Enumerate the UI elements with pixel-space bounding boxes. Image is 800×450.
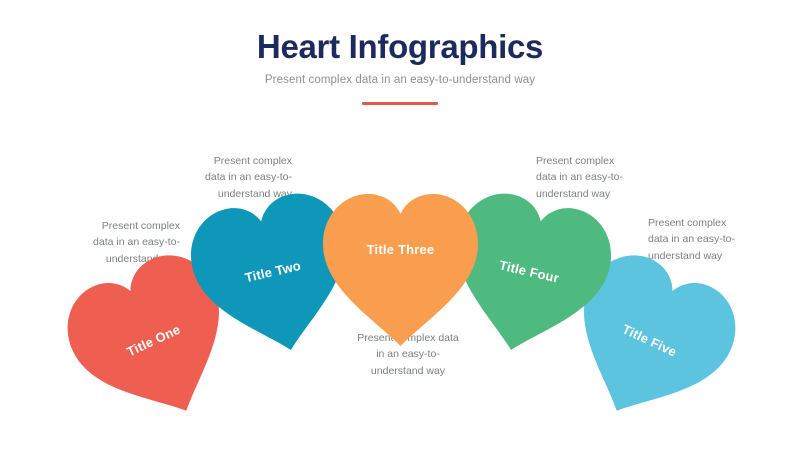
infographic-slide: Heart Infographics Present complex data … — [0, 0, 800, 450]
heart-description-four: Present complex data in an easy-to- unde… — [536, 153, 688, 202]
heart-description-five: Present complex data in an easy-to- unde… — [648, 215, 800, 264]
heart-shape-three[interactable]: Title Three — [313, 186, 488, 351]
heart-icon — [313, 186, 488, 351]
